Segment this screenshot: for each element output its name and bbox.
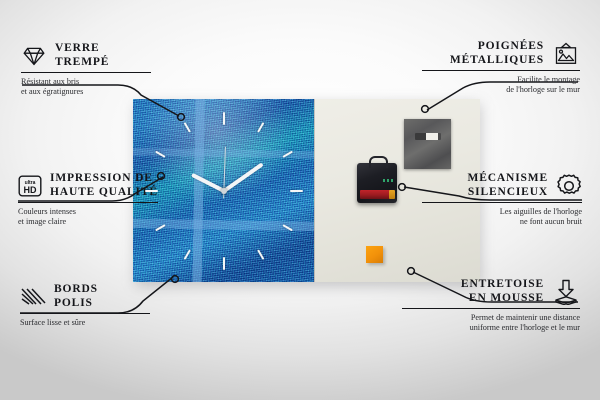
hour-marker — [257, 249, 264, 260]
wall-hanger-frame-icon — [552, 42, 580, 66]
hour-marker — [155, 150, 166, 157]
clock-center-cap — [221, 188, 227, 194]
callout-rule — [21, 72, 151, 73]
callout-verre-trempe[interactable]: VERRETREMPÉ Résistant aux briset aux égr… — [21, 42, 151, 98]
callout-poignees-metalliques[interactable]: POIGNÉESMÉTALLIQUES Facilite le montaged… — [422, 40, 580, 96]
foam-spacer-arrow-icon — [552, 279, 580, 305]
foam-spacer — [366, 246, 383, 263]
hour-marker — [183, 249, 190, 260]
callout-title: MÉCANISMESILENCIEUX — [468, 172, 549, 199]
hour-marker — [257, 122, 264, 133]
callout-mecanisme-silencieux[interactable]: MÉCANISMESILENCIEUX Les aiguilles de l'h… — [422, 172, 582, 228]
callout-description: Facilite le montagede l'horloge sur le m… — [422, 75, 580, 96]
infographic-canvas: VERRETREMPÉ Résistant aux briset aux égr… — [0, 0, 600, 400]
hour-marker — [282, 224, 293, 231]
callout-title: ENTRETOISEEN MOUSSE — [461, 278, 544, 305]
callout-entretoise-en-mousse[interactable]: ENTRETOISEEN MOUSSE Permet de maintenir … — [402, 278, 580, 334]
callout-rule — [422, 70, 580, 71]
battery — [360, 190, 393, 199]
callout-title: BORDSPOLIS — [54, 283, 98, 310]
diamond-icon — [21, 46, 47, 66]
hour-marker — [155, 224, 166, 231]
polished-edges-icon — [20, 287, 46, 307]
hour-marker — [282, 150, 293, 157]
callout-title: VERRETREMPÉ — [55, 42, 109, 69]
clock-movement-box — [357, 163, 397, 203]
gear-icon — [556, 173, 582, 199]
hanger-slot — [415, 133, 441, 140]
ultra-hd-icon: ultra HD — [18, 175, 42, 197]
metal-hanger-plate — [404, 119, 451, 169]
hour-marker — [223, 112, 225, 125]
clock-minute-hand — [222, 162, 263, 192]
clock-face-panel — [133, 99, 314, 282]
movement-hook — [369, 156, 388, 168]
hour-marker — [223, 257, 225, 270]
svg-text:HD: HD — [24, 185, 37, 195]
clock-hour-hand — [191, 172, 225, 192]
callout-title: POIGNÉESMÉTALLIQUES — [450, 40, 544, 67]
hour-marker — [145, 190, 158, 192]
callout-bords-polis[interactable]: BORDSPOLIS Surface lisse et sûre — [20, 283, 150, 328]
callout-description: Surface lisse et sûre — [20, 318, 150, 329]
clock-dial — [133, 99, 314, 282]
callout-description: Permet de maintenir une distanceuniforme… — [402, 313, 580, 334]
callout-description: Les aiguilles de l'horlogene font aucun … — [422, 207, 582, 228]
callout-rule — [422, 202, 582, 203]
callout-rule — [20, 313, 150, 314]
callout-rule — [402, 308, 580, 309]
movement-label — [383, 179, 393, 182]
hour-marker — [290, 190, 303, 192]
hour-marker — [183, 122, 190, 133]
callout-description: Résistant aux briset aux égratignures — [21, 77, 151, 98]
